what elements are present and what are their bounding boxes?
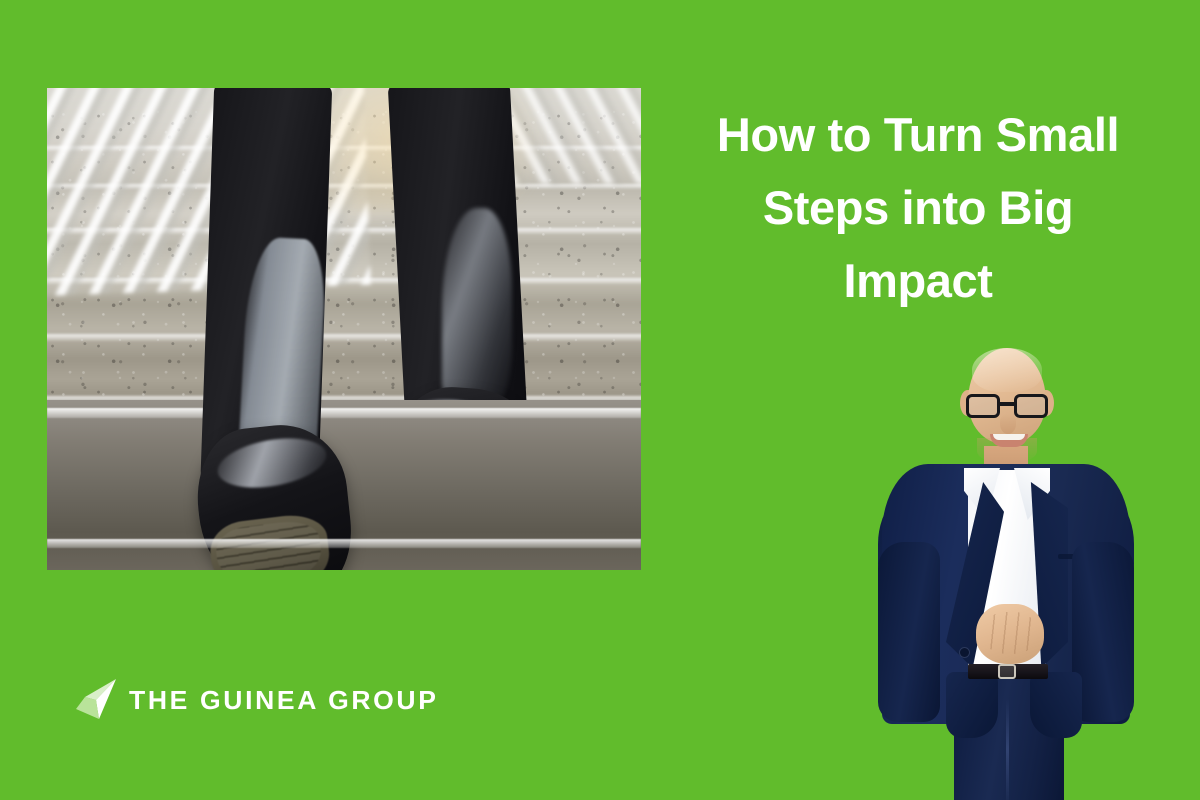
title-line-3: Impact [843, 254, 992, 307]
title-line-2: Steps into Big [763, 181, 1073, 234]
step-nosing [47, 539, 641, 548]
presenter-arm-left [878, 542, 940, 722]
stair-edge [47, 334, 641, 341]
brand-logo-text: THE GUINEA GROUP [129, 685, 439, 716]
blog-banner: How to Turn Small Steps into Big Impact … [0, 0, 1200, 800]
glasses-lens-left [966, 394, 1000, 418]
step-nosing [47, 408, 641, 418]
title-heading: How to Turn Small Steps into Big Impact [672, 98, 1164, 317]
glasses-lens-right [1014, 394, 1048, 418]
presenter-jacket-tail-right [1030, 672, 1082, 738]
presenter-jacket-tail-left [946, 672, 998, 738]
glasses-icon [964, 394, 1052, 418]
presenter-clasped-hands [976, 604, 1044, 664]
presenter-scalp-highlight [972, 348, 1042, 392]
presenter-belt-buckle [998, 664, 1016, 679]
brand-logo[interactable]: THE GUINEA GROUP [72, 678, 436, 722]
title-line-1: How to Turn Small [717, 108, 1119, 161]
presenter-trouser-crease [1006, 698, 1009, 800]
presenter-photo [872, 342, 1140, 800]
stairs-photo [47, 88, 641, 570]
presenter-jacket-button [960, 648, 969, 657]
page-title: How to Turn Small Steps into Big Impact [672, 98, 1164, 317]
back-leg-highlight [442, 208, 512, 408]
arrowhead-logo-icon [72, 678, 118, 722]
stairs-photo-inner [47, 88, 641, 570]
